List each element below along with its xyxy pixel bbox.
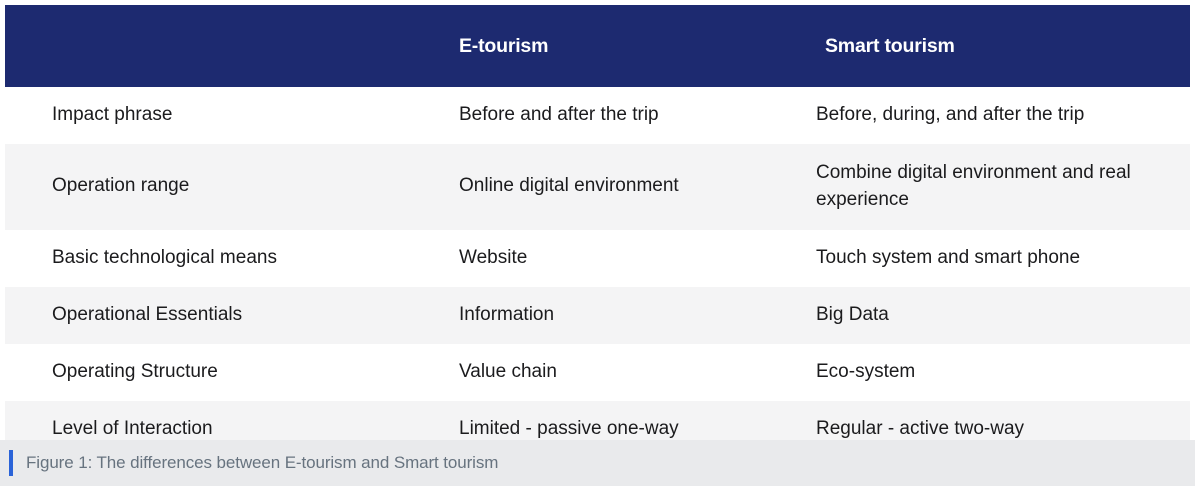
cell-etourism: Before and after the trip (432, 87, 798, 144)
cell-smart-tourism: Touch system and smart phone (798, 230, 1190, 287)
cell-attribute: Operation range (5, 144, 432, 230)
table-row: Operating Structure Value chain Eco-syst… (5, 344, 1190, 401)
cell-attribute: Operational Essentials (5, 287, 432, 344)
figure-container: E-tourism Smart tourism Impact phrase Be… (0, 0, 1195, 486)
cell-smart-tourism: Big Data (798, 287, 1190, 344)
table-header-row: E-tourism Smart tourism (5, 5, 1190, 87)
cell-attribute: Basic technological means (5, 230, 432, 287)
cell-smart-tourism: Eco-system (798, 344, 1190, 401)
table-row: Impact phrase Before and after the trip … (5, 87, 1190, 144)
figure-caption-text: Figure 1: The differences between E-tour… (26, 453, 498, 473)
table-row: Operational Essentials Information Big D… (5, 287, 1190, 344)
cell-smart-tourism: Before, during, and after the trip (798, 87, 1190, 144)
column-header-etourism: E-tourism (432, 5, 798, 87)
column-header-smart-tourism: Smart tourism (798, 5, 1190, 87)
table-body: Impact phrase Before and after the trip … (5, 87, 1190, 458)
cell-attribute: Operating Structure (5, 344, 432, 401)
caption-accent-bar (9, 450, 13, 476)
figure-caption-bar: Figure 1: The differences between E-tour… (0, 440, 1195, 486)
cell-etourism: Online digital environment (432, 144, 798, 230)
cell-attribute: Impact phrase (5, 87, 432, 144)
table-row: Operation range Online digital environme… (5, 144, 1190, 230)
cell-etourism: Information (432, 287, 798, 344)
comparison-table: E-tourism Smart tourism Impact phrase Be… (5, 5, 1190, 458)
table-header: E-tourism Smart tourism (5, 5, 1190, 87)
cell-etourism: Value chain (432, 344, 798, 401)
cell-smart-tourism: Combine digital environment and real exp… (798, 144, 1190, 230)
table-row: Basic technological means Website Touch … (5, 230, 1190, 287)
column-header-attribute (5, 5, 432, 87)
cell-etourism: Website (432, 230, 798, 287)
